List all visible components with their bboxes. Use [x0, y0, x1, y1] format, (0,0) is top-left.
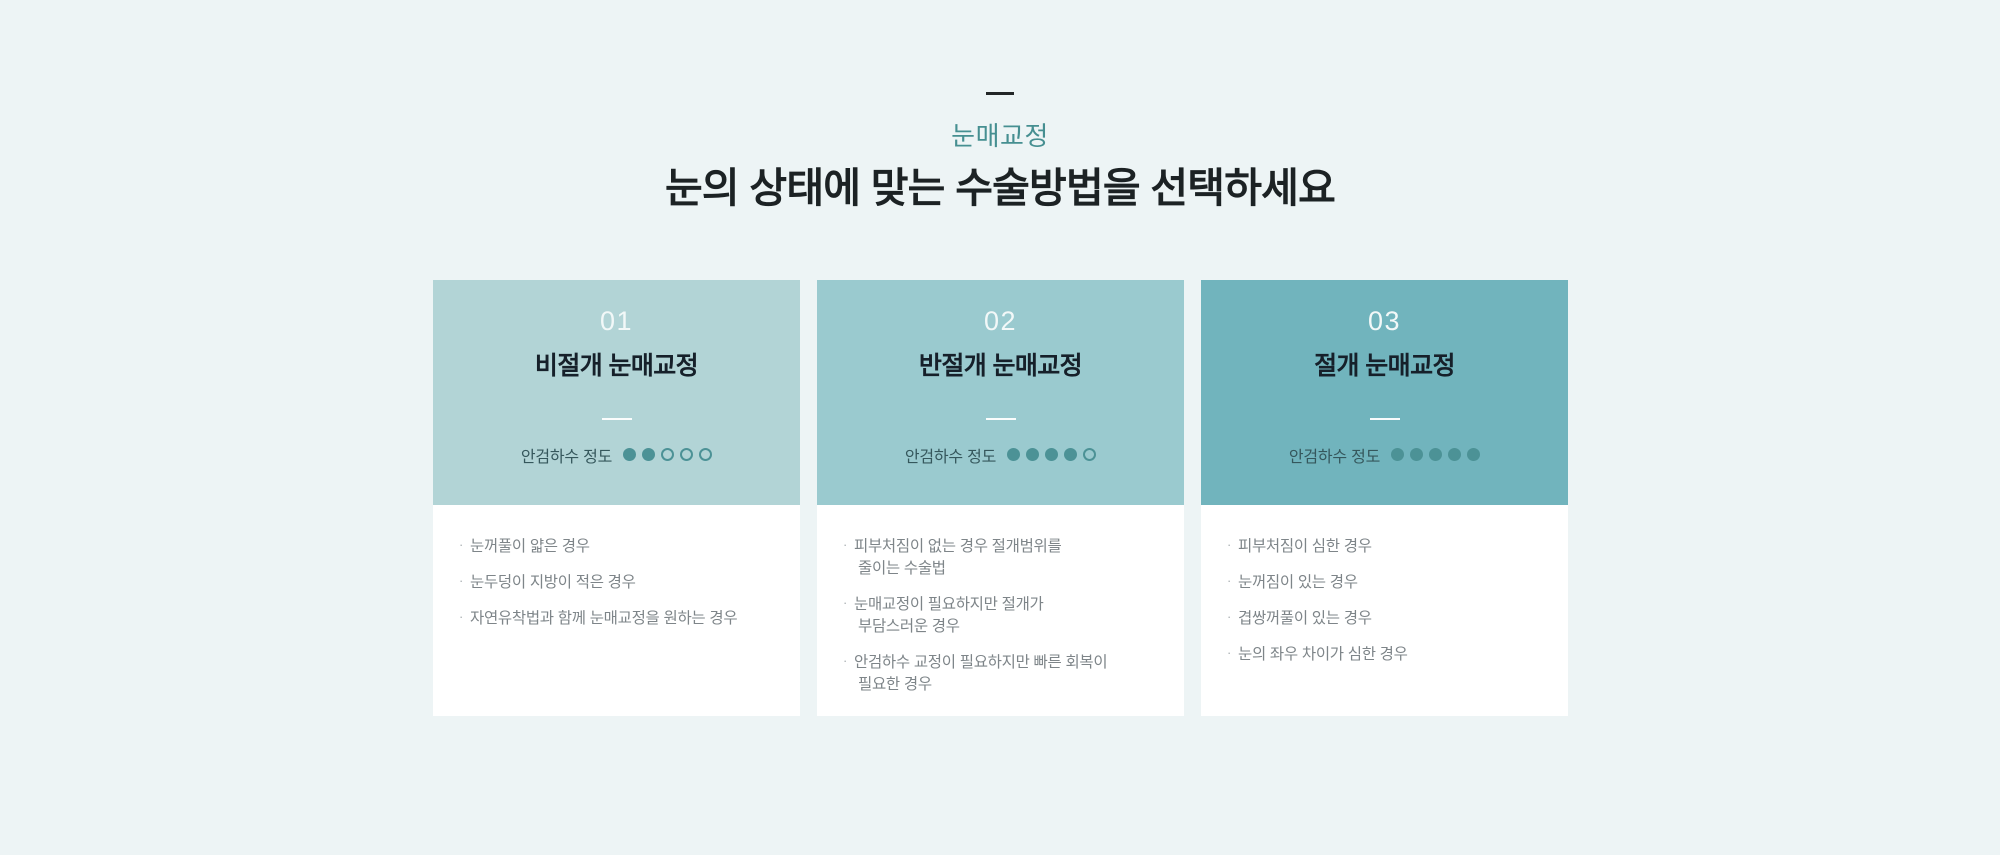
- list-item: · 눈의 좌우 차이가 심한 경우: [1227, 644, 1542, 666]
- bullet-dot-icon: ·: [459, 608, 470, 626]
- bullet-dot-icon: ·: [1227, 644, 1238, 662]
- severity-dot-empty: [680, 448, 693, 461]
- indication-text: 눈두덩이 지방이 적은 경우: [470, 572, 774, 594]
- list-item: · 안검하수 교정이 필요하지만 빠른 회복이필요한 경우: [843, 652, 1158, 696]
- card-body-2: · 피부처짐이 없는 경우 절개범위를줄이는 수술법 · 눈매교정이 필요하지만…: [817, 505, 1184, 716]
- indication-text: 눈꺼짐이 있는 경우: [1238, 572, 1542, 594]
- severity-dot-empty: [699, 448, 712, 461]
- bullet-dot-icon: ·: [843, 594, 854, 612]
- card-title-3: 절개 눈매교정: [1314, 351, 1455, 381]
- indication-list-2: · 피부처짐이 없는 경우 절개범위를줄이는 수술법 · 눈매교정이 필요하지만…: [843, 536, 1158, 696]
- card-title-2: 반절개 눈매교정: [919, 351, 1082, 381]
- indication-text: 자연유착법과 함께 눈매교정을 원하는 경우: [470, 608, 774, 630]
- card-body-3: · 피부처짐이 심한 경우 · 눈꺼짐이 있는 경우 · 겹쌍꺼풀이 있는 경우…: [1201, 505, 1568, 716]
- severity-dot-empty: [661, 448, 674, 461]
- severity-dot-filled: [1007, 448, 1020, 461]
- section-eyebrow: 눈매교정: [0, 121, 2000, 152]
- list-item: · 눈두덩이 지방이 적은 경우: [459, 572, 774, 594]
- list-item: · 겹쌍꺼풀이 있는 경우: [1227, 608, 1542, 630]
- indication-text: 겹쌍꺼풀이 있는 경우: [1238, 608, 1542, 630]
- severity-dot-filled: [1026, 448, 1039, 461]
- card-header-2: 02 반절개 눈매교정 안검하수 정도: [817, 280, 1184, 505]
- list-item: · 피부처짐이 없는 경우 절개범위를줄이는 수술법: [843, 536, 1158, 580]
- severity-label-3: 안검하수 정도: [1289, 443, 1380, 467]
- bullet-dot-icon: ·: [843, 652, 854, 670]
- indication-line-1: 안검하수 교정이 필요하지만 빠른 회복이: [854, 654, 1107, 671]
- severity-indicator-3: 안검하수 정도: [1289, 443, 1480, 467]
- card-number-1: 01: [600, 307, 633, 337]
- indication-line-1: 눈매교정이 필요하지만 절개가: [854, 596, 1044, 613]
- surgery-method-card-1[interactable]: 01 비절개 눈매교정 안검하수 정도 ·: [433, 280, 800, 716]
- severity-dot-filled: [1391, 448, 1404, 461]
- severity-dot-filled: [1064, 448, 1077, 461]
- list-item: · 눈매교정이 필요하지만 절개가부담스러운 경우: [843, 594, 1158, 638]
- severity-label-2: 안검하수 정도: [905, 443, 996, 467]
- severity-dots-3: [1391, 448, 1480, 461]
- indication-list-1: · 눈꺼풀이 얇은 경우 · 눈두덩이 지방이 적은 경우 · 자연유착법과 함…: [459, 536, 774, 630]
- list-item: · 자연유착법과 함께 눈매교정을 원하는 경우: [459, 608, 774, 630]
- severity-dot-filled: [1045, 448, 1058, 461]
- bullet-dot-icon: ·: [1227, 608, 1238, 626]
- card-divider-1: [602, 418, 632, 420]
- severity-label-1: 안검하수 정도: [521, 443, 612, 467]
- card-header-1: 01 비절개 눈매교정 안검하수 정도: [433, 280, 800, 505]
- card-body-1: · 눈꺼풀이 얇은 경우 · 눈두덩이 지방이 적은 경우 · 자연유착법과 함…: [433, 505, 800, 716]
- severity-dot-filled: [623, 448, 636, 461]
- surgery-method-card-list: 01 비절개 눈매교정 안검하수 정도 ·: [433, 280, 1568, 716]
- card-divider-3: [1370, 418, 1400, 420]
- list-item: · 눈꺼짐이 있는 경우: [1227, 572, 1542, 594]
- indication-line-2: 줄이는 수술법: [854, 558, 1158, 580]
- section-header: 눈매교정 눈의 상태에 맞는 수술방법을 선택하세요: [0, 0, 2000, 214]
- card-divider-2: [986, 418, 1016, 420]
- bullet-dot-icon: ·: [459, 536, 470, 554]
- bullet-dot-icon: ·: [1227, 536, 1238, 554]
- card-number-3: 03: [1368, 307, 1401, 337]
- surgery-method-card-2[interactable]: 02 반절개 눈매교정 안검하수 정도 ·: [817, 280, 1184, 716]
- severity-dot-filled: [1410, 448, 1423, 461]
- indication-text: 안검하수 교정이 필요하지만 빠른 회복이필요한 경우: [854, 652, 1158, 696]
- indication-line-2: 필요한 경우: [854, 674, 1158, 696]
- indication-text: 피부처짐이 심한 경우: [1238, 536, 1542, 558]
- indication-line-1: 피부처짐이 없는 경우 절개범위를: [854, 538, 1061, 555]
- severity-dots-2: [1007, 448, 1096, 461]
- indication-line-2: 부담스러운 경우: [854, 616, 1158, 638]
- card-header-3: 03 절개 눈매교정 안검하수 정도: [1201, 280, 1568, 505]
- indication-text: 눈의 좌우 차이가 심한 경우: [1238, 644, 1542, 666]
- severity-dot-filled: [1448, 448, 1461, 461]
- bullet-dot-icon: ·: [459, 572, 470, 590]
- severity-indicator-2: 안검하수 정도: [905, 443, 1096, 467]
- severity-dot-filled: [642, 448, 655, 461]
- page-title: 눈의 상태에 맞는 수술방법을 선택하세요: [0, 163, 2000, 214]
- list-item: · 피부처짐이 심한 경우: [1227, 536, 1542, 558]
- bullet-dot-icon: ·: [1227, 572, 1238, 590]
- horizontal-dash-icon: [986, 92, 1014, 95]
- surgery-method-card-3[interactable]: 03 절개 눈매교정 안검하수 정도 ·: [1201, 280, 1568, 716]
- card-number-2: 02: [984, 307, 1017, 337]
- indication-text: 눈꺼풀이 얇은 경우: [470, 536, 774, 558]
- bullet-dot-icon: ·: [843, 536, 854, 554]
- card-title-1: 비절개 눈매교정: [535, 351, 698, 381]
- severity-dots-1: [623, 448, 712, 461]
- page-root: 눈매교정 눈의 상태에 맞는 수술방법을 선택하세요 01 비절개 눈매교정 안…: [0, 0, 2000, 855]
- list-item: · 눈꺼풀이 얇은 경우: [459, 536, 774, 558]
- severity-dot-filled: [1429, 448, 1442, 461]
- severity-dot-filled: [1467, 448, 1480, 461]
- indication-list-3: · 피부처짐이 심한 경우 · 눈꺼짐이 있는 경우 · 겹쌍꺼풀이 있는 경우…: [1227, 536, 1542, 666]
- indication-text: 피부처짐이 없는 경우 절개범위를줄이는 수술법: [854, 536, 1158, 580]
- severity-dot-empty: [1083, 448, 1096, 461]
- indication-text: 눈매교정이 필요하지만 절개가부담스러운 경우: [854, 594, 1158, 638]
- severity-indicator-1: 안검하수 정도: [521, 443, 712, 467]
